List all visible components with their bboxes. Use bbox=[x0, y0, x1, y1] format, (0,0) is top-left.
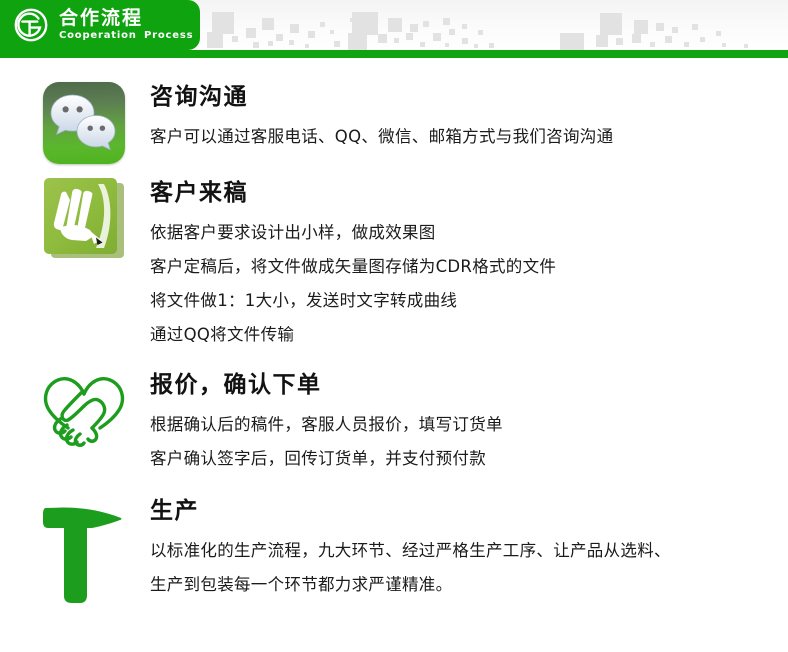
step-line: 根据确认后的稿件，客服人员报价，填写订货单 bbox=[150, 408, 503, 442]
step-icon-slot bbox=[36, 366, 132, 454]
step-line: 客户定稿后，将文件做成矢量图存储为CDR格式的文件 bbox=[150, 250, 556, 284]
step-body: 客户来稿 依据客户要求设计出小样，做成效果图 客户定稿后，将文件做成矢量图存储为… bbox=[132, 174, 556, 352]
step-line: 客户确认签字后，回传订货单，并支付预付款 bbox=[150, 442, 503, 476]
process-step-quotation: 报价，确认下单 根据确认后的稿件，客服人员报价，填写订货单 客户确认签字后，回传… bbox=[0, 366, 788, 476]
step-body: 报价，确认下单 根据确认后的稿件，客服人员报价，填写订货单 客户确认签字后，回传… bbox=[132, 366, 503, 476]
step-line: 将文件做1：1大小，发送时文字转成曲线 bbox=[150, 284, 556, 318]
page-header: 合作流程 Cooperation Process bbox=[0, 0, 788, 58]
process-step-consultation: 咨询沟通 客户可以通过客服电话、QQ、微信、邮箱方式与我们咨询沟通 bbox=[0, 78, 788, 164]
company-monogram-logo-icon bbox=[14, 8, 48, 42]
handshake-heart-icon bbox=[38, 370, 130, 454]
step-icon-slot bbox=[36, 492, 132, 608]
step-title: 咨询沟通 bbox=[150, 80, 613, 114]
step-icon-slot bbox=[36, 78, 132, 164]
step-line: 生产到包装每一个环节都力求严谨精准。 bbox=[150, 568, 671, 602]
step-line: 依据客户要求设计出小样，做成效果图 bbox=[150, 216, 556, 250]
step-line: 客户可以通过客服电话、QQ、微信、邮箱方式与我们咨询沟通 bbox=[150, 120, 613, 154]
hand-with-pen-icon bbox=[44, 178, 124, 258]
step-body: 咨询沟通 客户可以通过客服电话、QQ、微信、邮箱方式与我们咨询沟通 bbox=[132, 78, 613, 154]
header-accent-bar bbox=[0, 50, 788, 58]
header-title-en: Cooperation Process bbox=[59, 29, 193, 43]
step-body: 生产 以标准化的生产流程，九大环节、经过严格生产工序、让产品从选料、 生产到包装… bbox=[132, 492, 671, 602]
step-line: 以标准化的生产流程，九大环节、经过严格生产工序、让产品从选料、 bbox=[150, 534, 671, 568]
tile-face-layer bbox=[44, 178, 117, 254]
process-steps-list: 咨询沟通 客户可以通过客服电话、QQ、微信、邮箱方式与我们咨询沟通 bbox=[0, 58, 788, 608]
process-step-production: 生产 以标准化的生产流程，九大环节、经过严格生产工序、让产品从选料、 生产到包装… bbox=[0, 492, 788, 608]
process-step-submission: 客户来稿 依据客户要求设计出小样，做成效果图 客户定稿后，将文件做成矢量图存储为… bbox=[0, 174, 788, 352]
header-title-tab: 合作流程 Cooperation Process bbox=[0, 0, 200, 50]
header-title-cn: 合作流程 bbox=[59, 7, 193, 29]
step-icon-slot bbox=[36, 174, 132, 258]
header-titles: 合作流程 Cooperation Process bbox=[59, 7, 193, 44]
step-line: 通过QQ将文件传输 bbox=[150, 318, 556, 352]
hammer-icon bbox=[38, 496, 130, 608]
wechat-icon bbox=[43, 82, 125, 164]
step-title: 客户来稿 bbox=[150, 176, 556, 210]
step-title: 报价，确认下单 bbox=[150, 368, 503, 402]
step-title: 生产 bbox=[150, 494, 671, 528]
